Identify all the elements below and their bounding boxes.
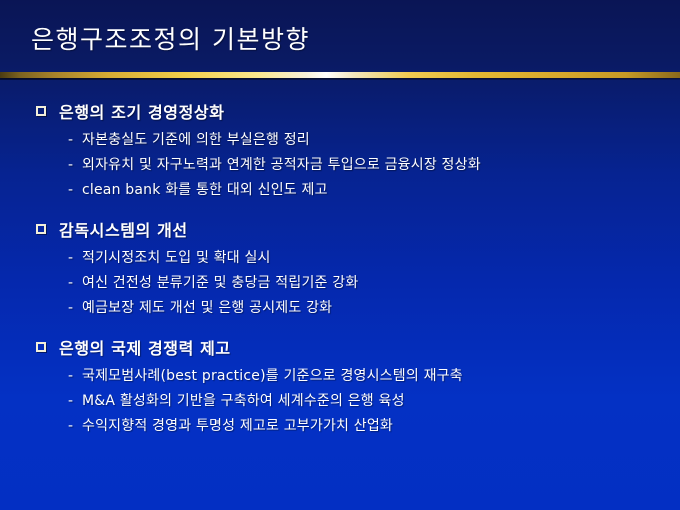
list-item-label: 여신 건전성 분류기준 및 충당금 적립기준 강화 <box>82 272 358 292</box>
dash-marker-icon: - <box>68 182 82 198</box>
section-heading-row: 감독시스템의 개선 <box>0 216 680 242</box>
list-item: - 예금보장 제도 개선 및 은행 공시제도 강화 <box>0 297 680 322</box>
list-item: - clean bank 화를 통한 대외 신인도 제고 <box>0 179 680 204</box>
content-section: 은행의 조기 경영정상화 - 자본충실도 기준에 의한 부실은행 정리 - 외자… <box>0 98 680 204</box>
section-heading-label: 은행의 국제 경쟁력 제고 <box>59 335 231 359</box>
square-bullet-icon <box>36 342 46 352</box>
list-item-label: 예금보장 제도 개선 및 은행 공시제도 강화 <box>82 297 332 317</box>
dash-marker-icon: - <box>68 300 82 316</box>
content-section: 감독시스템의 개선 - 적기시정조치 도입 및 확대 실시 - 여신 건전성 분… <box>0 216 680 322</box>
list-item-label: 자본충실도 기준에 의한 부실은행 정리 <box>82 129 310 149</box>
list-item-label: 국제모범사례(best practice)를 기준으로 경영시스템의 재구축 <box>82 365 463 385</box>
list-item-label: clean bank 화를 통한 대외 신인도 제고 <box>82 179 328 199</box>
dash-marker-icon: - <box>68 418 82 434</box>
list-item-label: 외자유치 및 자구노력과 연계한 공적자금 투입으로 금융시장 정상화 <box>82 154 481 174</box>
section-heading-row: 은행의 국제 경쟁력 제고 <box>0 334 680 360</box>
list-item-label: 적기시정조치 도입 및 확대 실시 <box>82 247 271 267</box>
dash-marker-icon: - <box>68 132 82 148</box>
list-item: - 외자유치 및 자구노력과 연계한 공적자금 투입으로 금융시장 정상화 <box>0 154 680 179</box>
list-item: - 국제모범사례(best practice)를 기준으로 경영시스템의 재구축 <box>0 365 680 390</box>
list-item-label: 수익지향적 경영과 투명성 제고로 고부가가치 산업화 <box>82 415 393 435</box>
section-heading-label: 감독시스템의 개선 <box>59 217 188 241</box>
list-item: - M&A 활성화의 기반을 구축하여 세계수준의 은행 육성 <box>0 390 680 415</box>
dash-marker-icon: - <box>68 393 82 409</box>
section-heading-row: 은행의 조기 경영정상화 <box>0 98 680 124</box>
section-heading-label: 은행의 조기 경영정상화 <box>59 99 225 123</box>
slide-title-area: 은행구조조정의 기본방향 <box>0 0 680 82</box>
list-item: - 자본충실도 기준에 의한 부실은행 정리 <box>0 129 680 154</box>
presentation-slide: 은행구조조정의 기본방향 은행의 조기 경영정상화 - 자본충실도 기준에 의한… <box>0 0 680 510</box>
slide-body: 은행의 조기 경영정상화 - 자본충실도 기준에 의한 부실은행 정리 - 외자… <box>0 98 680 452</box>
page-title: 은행구조조정의 기본방향 <box>31 24 310 56</box>
square-bullet-icon <box>36 224 46 234</box>
sub-bullet-list: - 국제모범사례(best practice)를 기준으로 경영시스템의 재구축… <box>0 365 680 440</box>
list-item-label: M&A 활성화의 기반을 구축하여 세계수준의 은행 육성 <box>82 390 405 410</box>
dash-marker-icon: - <box>68 275 82 291</box>
sub-bullet-list: - 자본충실도 기준에 의한 부실은행 정리 - 외자유치 및 자구노력과 연계… <box>0 129 680 204</box>
square-bullet-icon <box>36 106 46 116</box>
list-item: - 적기시정조치 도입 및 확대 실시 <box>0 247 680 272</box>
gold-divider-shadow <box>0 78 680 80</box>
sub-bullet-list: - 적기시정조치 도입 및 확대 실시 - 여신 건전성 분류기준 및 충당금 … <box>0 247 680 322</box>
dash-marker-icon: - <box>68 157 82 173</box>
content-section: 은행의 국제 경쟁력 제고 - 국제모범사례(best practice)를 기… <box>0 334 680 440</box>
list-item: - 수익지향적 경영과 투명성 제고로 고부가가치 산업화 <box>0 415 680 440</box>
list-item: - 여신 건전성 분류기준 및 충당금 적립기준 강화 <box>0 272 680 297</box>
dash-marker-icon: - <box>68 250 82 266</box>
dash-marker-icon: - <box>68 368 82 384</box>
